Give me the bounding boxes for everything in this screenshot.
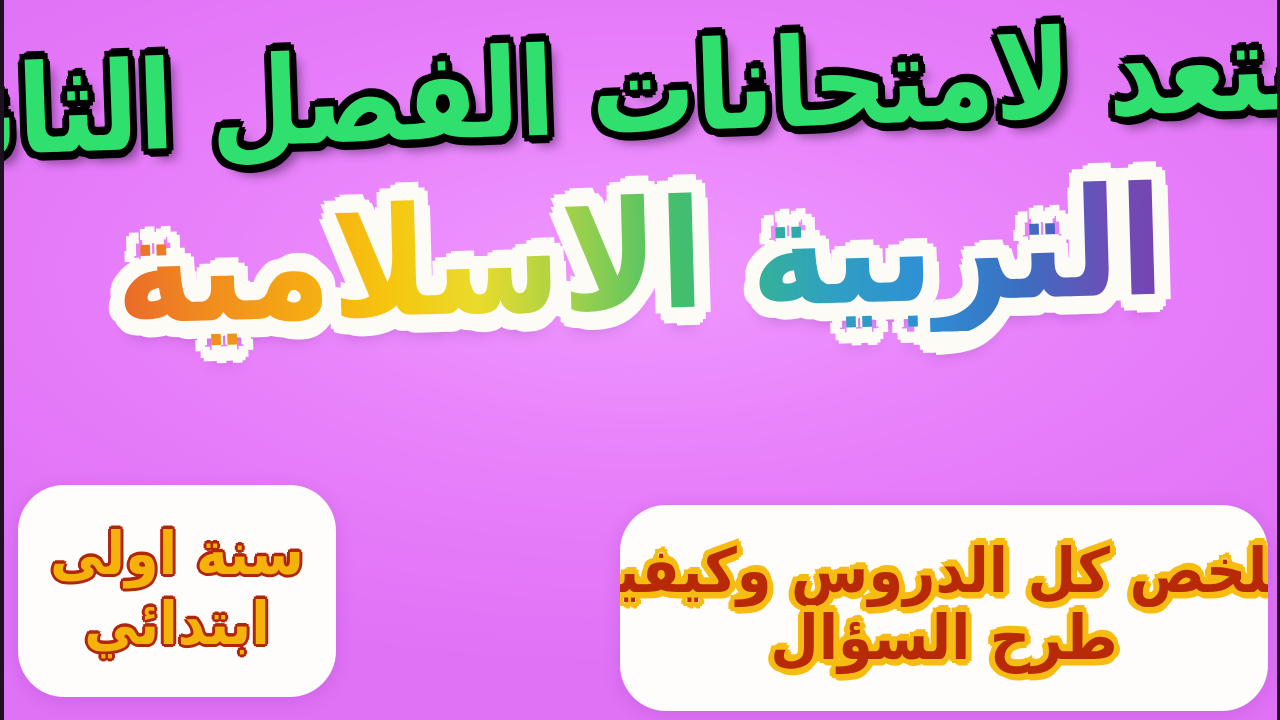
grade-card-line-2: ابتدائي	[84, 591, 269, 658]
grade-card-line-1: سنة اولى	[50, 521, 304, 588]
description-card: ملخص كل الدروس وكيفية طرح السؤال	[620, 505, 1268, 711]
description-card-line-2: طرح السؤال	[770, 605, 1118, 674]
headline: استعد لامتحانات الفصل الثاني	[0, 14, 1280, 164]
description-card-line-1: ملخص كل الدروس وكيفية	[620, 538, 1268, 607]
main-title-text: التربية الاسلامية	[95, 160, 1185, 356]
thumbnail-canvas: استعد لامتحانات الفصل الثاني التربية الا…	[0, 0, 1280, 720]
main-title-stack: التربية الاسلامية التربية الاسلامية	[95, 160, 1185, 356]
grade-card: سنة اولى ابتدائي	[18, 485, 336, 697]
main-title: التربية الاسلامية التربية الاسلامية	[0, 150, 1280, 365]
